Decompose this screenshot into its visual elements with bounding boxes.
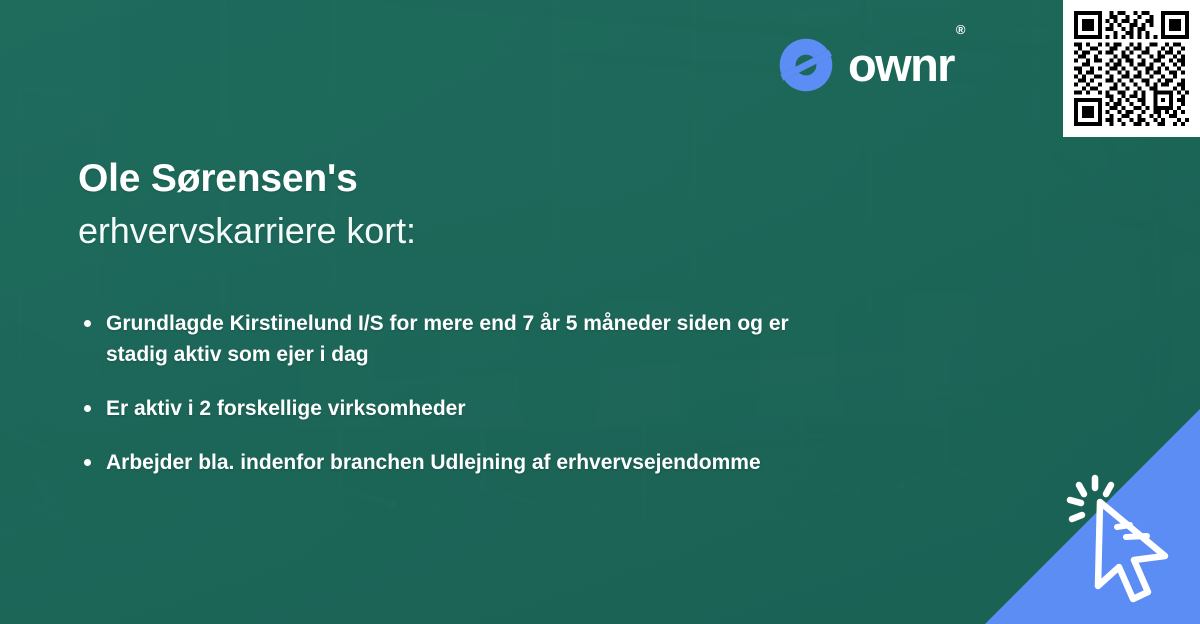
ownr-logo: ownr ® — [777, 36, 963, 94]
click-cursor-icon — [1062, 474, 1180, 606]
ownr-business-career-card: Ole Sørensen's erhvervskarriere kort: Gr… — [0, 0, 1200, 624]
card-content: Ole Sørensen's erhvervskarriere kort: Gr… — [0, 0, 1200, 624]
qr-code-icon[interactable] — [1074, 11, 1189, 126]
list-item: Grundlagde Kirstinelund I/S for mere end… — [80, 308, 846, 370]
list-item: Er aktiv i 2 forskellige virksomheder — [80, 393, 846, 424]
logo-wordmark: ownr — [848, 41, 954, 88]
page-title: Ole Sørensen's — [78, 158, 416, 201]
ownr-circle-logo-icon — [777, 36, 835, 94]
page-subtitle: erhvervskarriere kort: — [78, 211, 416, 251]
title-block: Ole Sørensen's erhvervskarriere kort: — [78, 158, 416, 250]
career-facts-list: Grundlagde Kirstinelund I/S for mere end… — [80, 308, 980, 501]
registered-trademark-icon: ® — [956, 22, 966, 37]
list-item: Arbejder bla. indenfor branchen Udlejnin… — [80, 447, 846, 478]
qr-code-panel[interactable] — [1063, 0, 1200, 137]
